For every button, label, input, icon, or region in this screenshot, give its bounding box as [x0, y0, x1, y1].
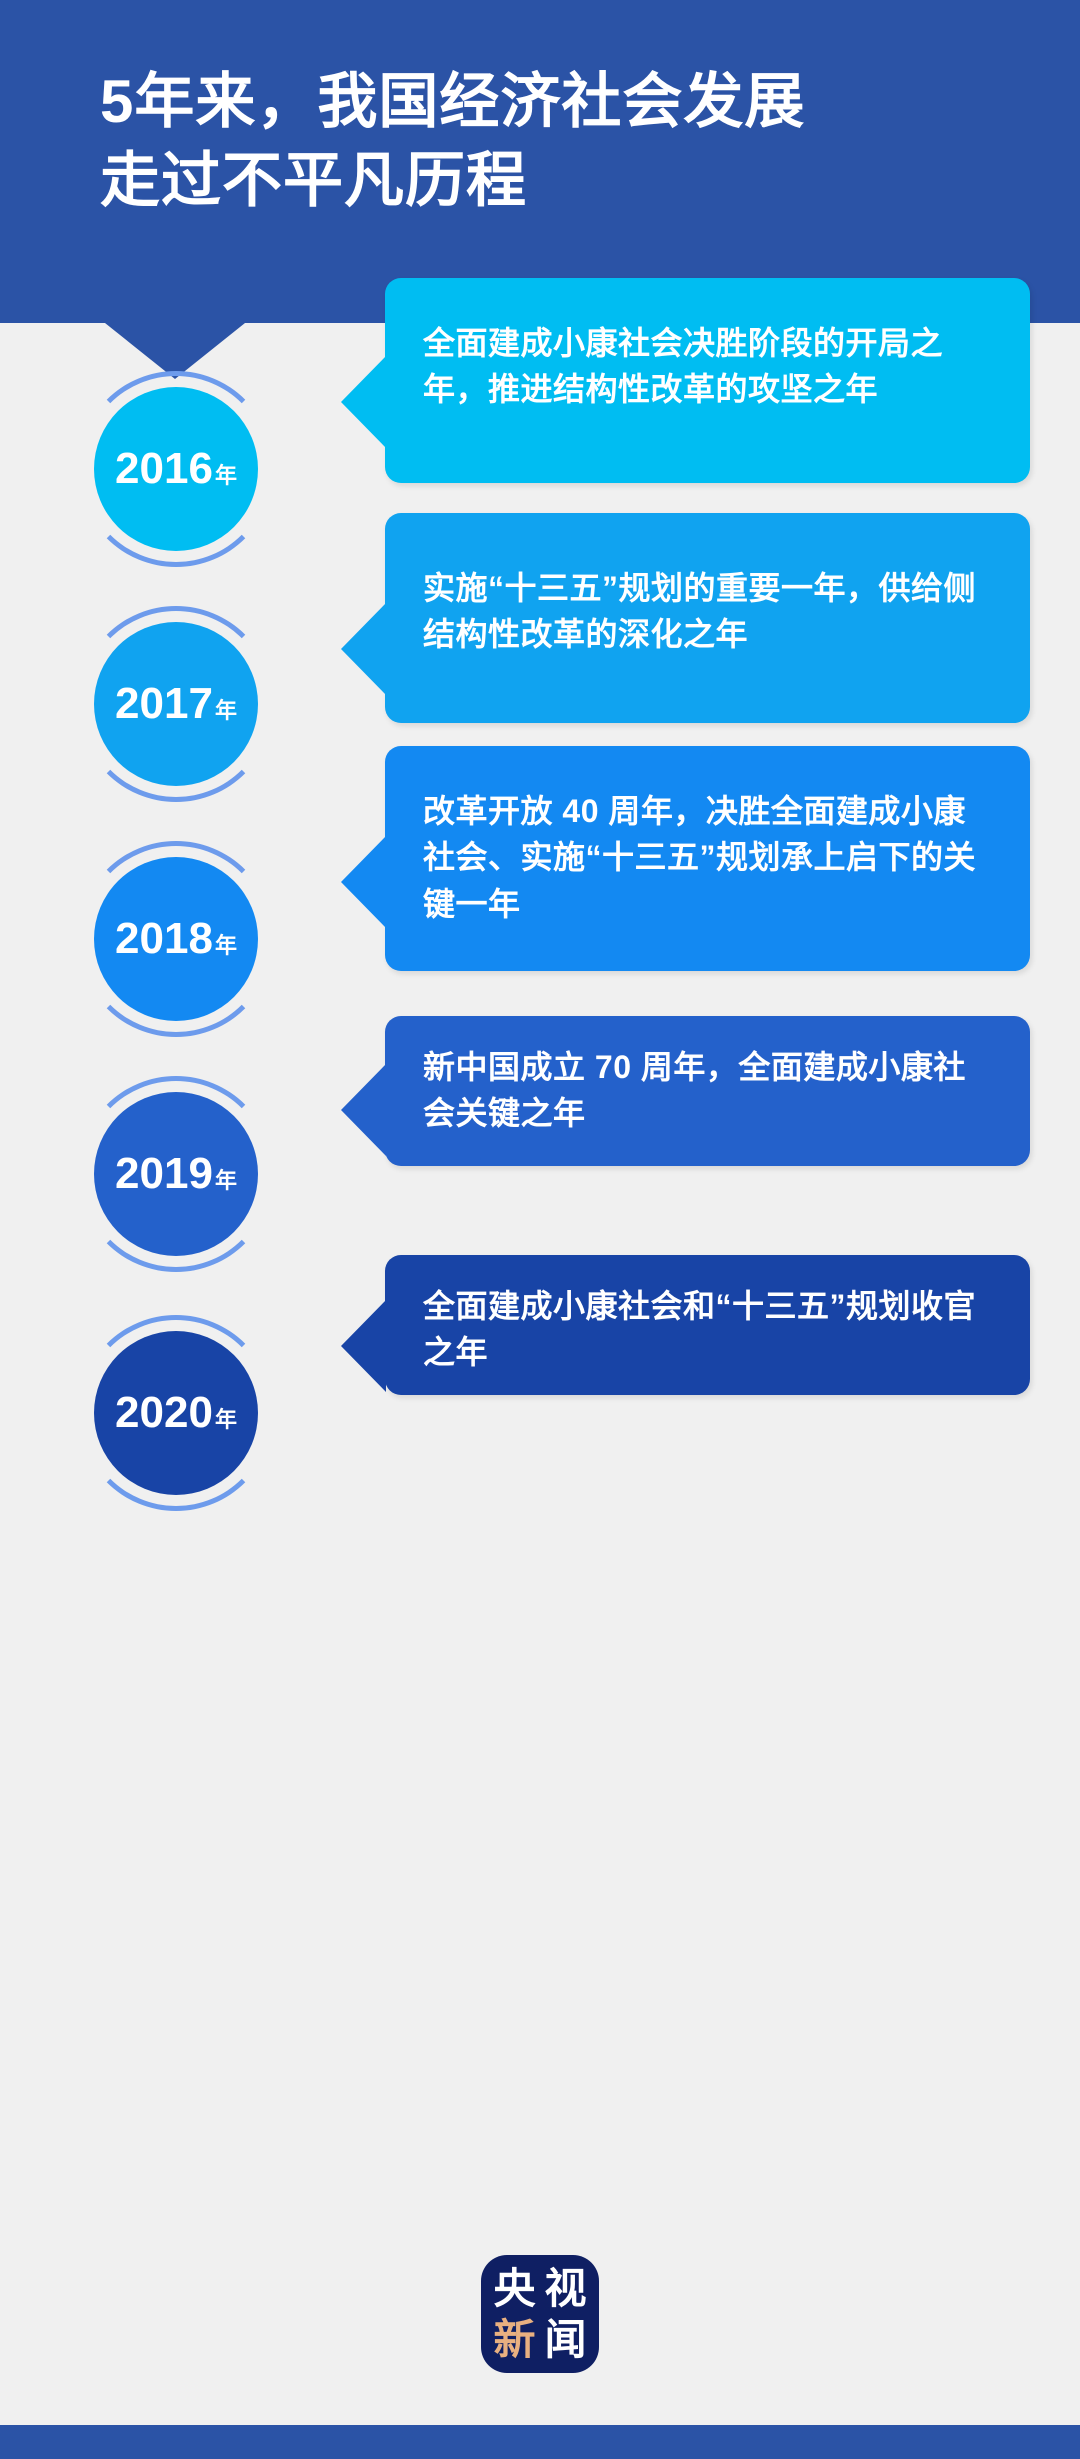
- timeline: 2016年全面建成小康社会决胜阶段的开局之年，推进结构性改革的攻坚之年2017年…: [0, 323, 1080, 2383]
- timeline-node-2017[interactable]: 2017年: [78, 606, 274, 802]
- node-year-label: 2016年: [115, 447, 237, 491]
- node-year-label: 2017年: [115, 682, 237, 726]
- page-title: 5年来，我国经济社会发展 走过不平凡历程: [100, 62, 980, 220]
- footer-bar: [0, 2425, 1080, 2459]
- logo-char-xin: 新: [493, 2319, 535, 2361]
- timeline-callout-2016[interactable]: 全面建成小康社会决胜阶段的开局之年，推进结构性改革的攻坚之年: [385, 278, 1030, 483]
- callout-text: 实施“十三五”规划的重要一年，供给侧结构性改革的深化之年: [423, 565, 994, 658]
- timeline-node-2020[interactable]: 2020年: [78, 1315, 274, 1511]
- logo-area: 央 视 新 闻: [0, 2255, 1080, 2373]
- timeline-node-2018[interactable]: 2018年: [78, 841, 274, 1037]
- cctv-news-logo: 央 视 新 闻: [481, 2255, 599, 2373]
- node-year-number: 2019: [115, 1149, 213, 1198]
- node-disc: 2016年: [94, 387, 258, 551]
- node-disc: 2017年: [94, 622, 258, 786]
- callout-text: 改革开放 40 周年，决胜全面建成小康社会、实施“十三五”规划承上启下的关键一年: [423, 788, 994, 927]
- callout-text: 全面建成小康社会和“十三五”规划收官之年: [423, 1283, 994, 1376]
- node-year-number: 2016: [115, 444, 213, 493]
- node-year-suffix: 年: [215, 1168, 237, 1193]
- node-disc: 2020年: [94, 1331, 258, 1495]
- node-year-suffix: 年: [215, 698, 237, 723]
- node-disc: 2018年: [94, 857, 258, 1021]
- node-year-number: 2020: [115, 1388, 213, 1437]
- callout-beak-arrow: [341, 603, 386, 695]
- timeline-node-2019[interactable]: 2019年: [78, 1076, 274, 1272]
- callout-text: 全面建成小康社会决胜阶段的开局之年，推进结构性改革的攻坚之年: [423, 320, 994, 413]
- logo-char-yang: 央: [493, 2268, 535, 2310]
- timeline-callout-2020[interactable]: 全面建成小康社会和“十三五”规划收官之年: [385, 1255, 1030, 1395]
- timeline-callout-2017[interactable]: 实施“十三五”规划的重要一年，供给侧结构性改革的深化之年: [385, 513, 1030, 723]
- node-year-number: 2018: [115, 914, 213, 963]
- node-year-label: 2019年: [115, 1152, 237, 1196]
- callout-beak-arrow: [341, 1064, 386, 1156]
- callout-beak-arrow: [341, 836, 386, 928]
- node-year-number: 2017: [115, 679, 213, 728]
- callout-text: 新中国成立 70 周年，全面建成小康社会关键之年: [423, 1044, 994, 1137]
- header-banner: 5年来，我国经济社会发展 走过不平凡历程: [0, 0, 1080, 323]
- callout-beak-arrow: [341, 1300, 386, 1392]
- callout-beak-arrow: [341, 356, 386, 448]
- node-year-suffix: 年: [215, 933, 237, 958]
- node-year-label: 2020年: [115, 1391, 237, 1435]
- timeline-callout-2019[interactable]: 新中国成立 70 周年，全面建成小康社会关键之年: [385, 1016, 1030, 1166]
- timeline-node-2016[interactable]: 2016年: [78, 371, 274, 567]
- logo-char-wen: 闻: [544, 2319, 586, 2361]
- timeline-callout-2018[interactable]: 改革开放 40 周年，决胜全面建成小康社会、实施“十三五”规划承上启下的关键一年: [385, 746, 1030, 971]
- node-disc: 2019年: [94, 1092, 258, 1256]
- node-year-suffix: 年: [215, 463, 237, 488]
- logo-char-shi: 视: [544, 2268, 586, 2310]
- node-year-label: 2018年: [115, 917, 237, 961]
- node-year-suffix: 年: [215, 1407, 237, 1432]
